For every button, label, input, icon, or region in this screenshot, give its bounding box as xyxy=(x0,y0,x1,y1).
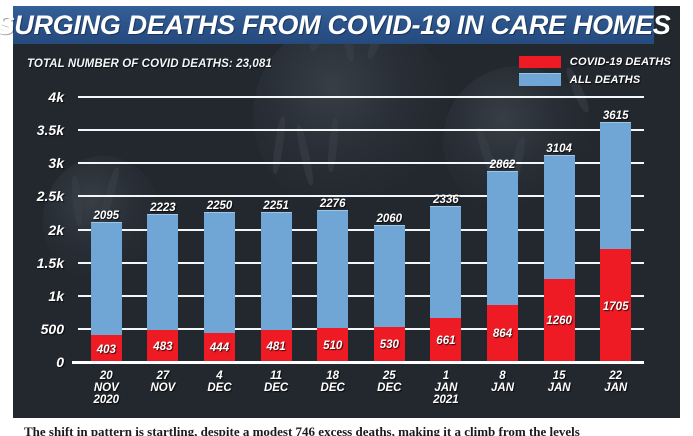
bar-value-label-all-deaths: 2060 xyxy=(377,213,403,225)
bar-value-label-covid-deaths: 1260 xyxy=(546,315,572,327)
bar-covid-deaths[interactable]: 481 xyxy=(261,330,292,362)
bar-group[interactable]: 2251481 xyxy=(261,213,292,362)
x-axis-tick-label: 15JAN xyxy=(548,370,571,394)
y-axis-labels: 05001k1.5k2k2.5k3k3.5k4k xyxy=(0,97,72,362)
legend-item-covid-deaths: COVID-19 DEATHS xyxy=(519,56,671,68)
plot-area: 2095403222348322504442251481227651020605… xyxy=(78,97,644,362)
bar-covid-deaths[interactable]: 530 xyxy=(374,327,405,362)
bar-group[interactable]: 2095403 xyxy=(91,223,122,362)
y-axis-tick-label: 3.5k xyxy=(37,122,64,138)
x-axis-baseline xyxy=(72,361,644,364)
bar-group[interactable]: 2060530 xyxy=(374,226,405,362)
article-excerpt: The shift in pattern is startling, despi… xyxy=(0,424,693,436)
bar-group[interactable]: 2862864 xyxy=(487,172,518,362)
bar-value-label-covid-deaths: 481 xyxy=(267,341,286,353)
legend-label-covid-deaths: COVID-19 DEATHS xyxy=(570,56,671,68)
x-axis-tick-label: 20NOV2020 xyxy=(94,370,120,406)
bar-value-label-covid-deaths: 661 xyxy=(436,335,455,347)
bar-covid-deaths[interactable]: 864 xyxy=(487,305,518,362)
bar-value-label-all-deaths: 3104 xyxy=(546,143,572,155)
bar-group[interactable]: 31041260 xyxy=(544,156,575,362)
total-deaths-subtitle: TOTAL NUMBER OF COVID DEATHS: 23,081 xyxy=(27,58,272,70)
bar-value-label-all-deaths: 2336 xyxy=(433,194,459,206)
bar-value-label-all-deaths: 2223 xyxy=(150,202,176,214)
chart-title-bar: SURGING DEATHS FROM COVID-19 IN CARE HOM… xyxy=(13,6,654,44)
bar-value-label-covid-deaths: 1705 xyxy=(603,301,629,313)
legend-swatch-all-deaths xyxy=(519,73,561,86)
x-axis-tick-label: 25DEC xyxy=(377,370,401,394)
bar-covid-deaths[interactable]: 510 xyxy=(317,328,348,362)
bar-covid-deaths[interactable]: 444 xyxy=(204,333,235,362)
bar-value-label-covid-deaths: 864 xyxy=(493,328,512,340)
bar-covid-deaths[interactable]: 1705 xyxy=(600,249,631,362)
bar-group[interactable]: 2250444 xyxy=(204,213,235,362)
bar-series-container: 2095403222348322504442251481227651020605… xyxy=(78,97,644,362)
y-axis-tick-label: 2.5k xyxy=(37,188,64,204)
bar-value-label-all-deaths: 2250 xyxy=(207,200,233,212)
x-axis-tick-label: 22JAN xyxy=(604,370,627,394)
bar-value-label-covid-deaths: 403 xyxy=(97,344,116,356)
bar-covid-deaths[interactable]: 1260 xyxy=(544,279,575,362)
bar-covid-deaths[interactable]: 483 xyxy=(147,330,178,362)
article-text-strip: The shift in pattern is startling, despi… xyxy=(0,418,693,436)
legend-label-all-deaths: ALL DEATHS xyxy=(570,74,641,86)
bar-value-label-covid-deaths: 483 xyxy=(153,341,172,353)
x-axis-tick-label: 4DEC xyxy=(207,370,231,394)
bar-value-label-all-deaths: 2251 xyxy=(263,200,289,212)
bar-value-label-all-deaths: 2862 xyxy=(490,159,516,171)
bar-value-label-all-deaths: 3615 xyxy=(603,110,629,122)
bar-group[interactable]: 2276510 xyxy=(317,211,348,362)
y-axis-tick-label: 0 xyxy=(56,354,64,370)
y-axis-tick-label: 4k xyxy=(48,89,64,105)
page-title: SURGING DEATHS FROM COVID-19 IN CARE HOM… xyxy=(0,10,670,41)
bar-group[interactable]: 36151705 xyxy=(600,123,631,362)
legend-swatch-covid-deaths xyxy=(519,56,561,68)
x-axis-tick-label: 8JAN xyxy=(491,370,514,394)
x-axis-tick-label: 18DEC xyxy=(321,370,345,394)
bar-covid-deaths[interactable]: 661 xyxy=(430,318,461,362)
bar-value-label-covid-deaths: 444 xyxy=(210,342,229,354)
bar-value-label-covid-deaths: 510 xyxy=(323,340,342,352)
chart-legend: COVID-19 DEATHS ALL DEATHS xyxy=(519,56,671,86)
y-axis-tick-label: 500 xyxy=(41,321,64,337)
bar-group[interactable]: 2223483 xyxy=(147,215,178,362)
y-axis-tick-label: 1.5k xyxy=(37,255,64,271)
legend-item-all-deaths: ALL DEATHS xyxy=(519,73,671,86)
x-axis-labels: 20NOV202027NOV4DEC11DEC18DEC25DEC1JAN202… xyxy=(78,366,644,412)
bar-covid-deaths[interactable]: 403 xyxy=(91,335,122,362)
x-axis-tick-label: 1JAN2021 xyxy=(433,370,459,406)
bar-value-label-all-deaths: 2276 xyxy=(320,198,346,210)
y-axis-tick-label: 2k xyxy=(48,222,64,238)
bar-value-label-covid-deaths: 530 xyxy=(380,339,399,351)
bar-value-label-all-deaths: 2095 xyxy=(94,210,120,222)
x-axis-tick-label: 27NOV xyxy=(150,370,175,394)
x-axis-tick-label: 11DEC xyxy=(264,370,288,394)
y-axis-tick-label: 3k xyxy=(48,155,64,171)
y-axis-tick-label: 1k xyxy=(48,288,64,304)
bar-group[interactable]: 2336661 xyxy=(430,207,461,362)
